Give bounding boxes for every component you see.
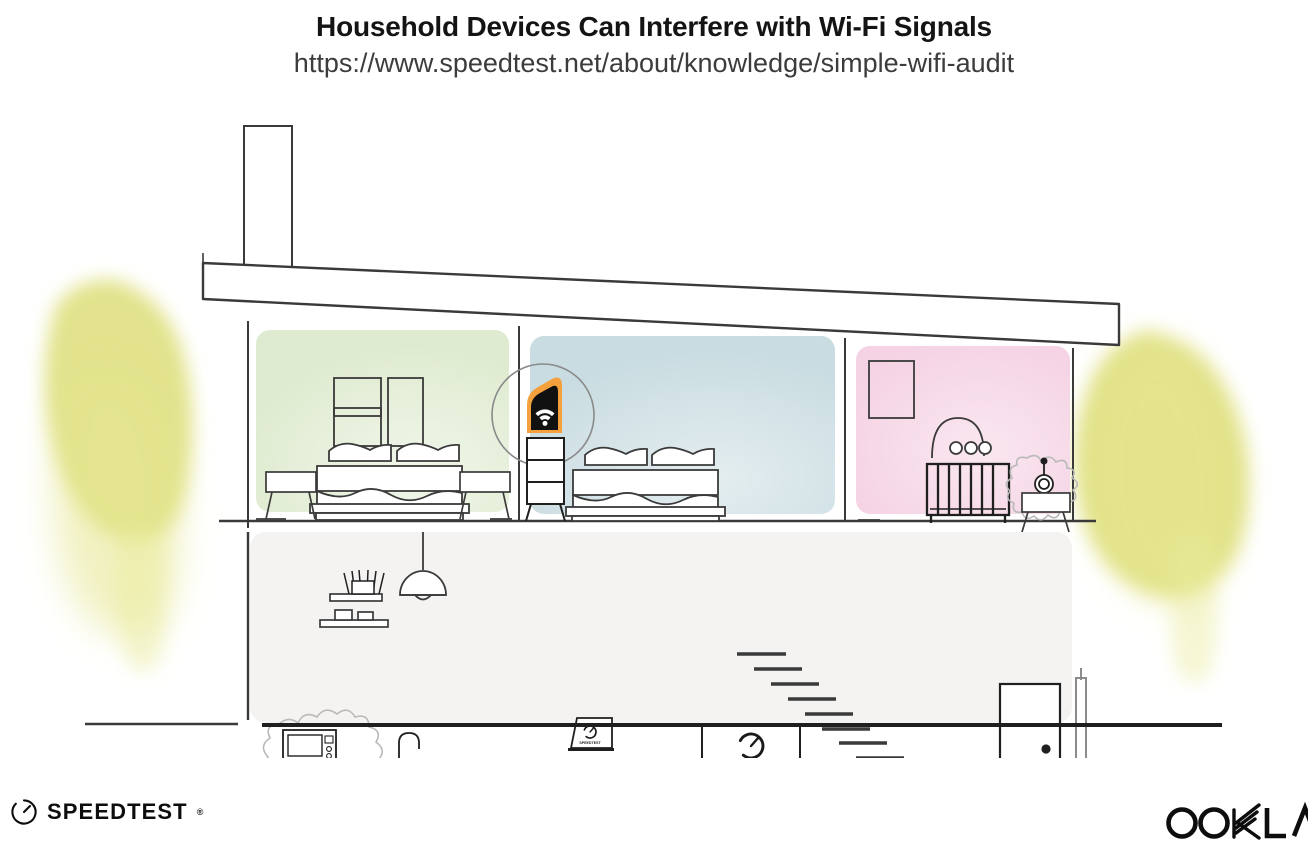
door-knob-icon bbox=[1041, 744, 1050, 753]
room-bedroom-green bbox=[256, 330, 512, 520]
registered-trademark-symbol: ® bbox=[197, 807, 204, 817]
source-url: https://www.speedtest.net/about/knowledg… bbox=[0, 49, 1308, 79]
side-table-nursery bbox=[1022, 493, 1070, 532]
bed-blue bbox=[566, 448, 725, 521]
sidelight-window bbox=[1076, 668, 1086, 758]
speedtest-logo[interactable]: SPEEDTEST ® bbox=[10, 798, 203, 826]
bed-green bbox=[310, 444, 469, 520]
microwave bbox=[283, 730, 336, 758]
room-nursery-pink bbox=[856, 346, 1077, 532]
sink-faucet bbox=[399, 733, 419, 758]
house-cutaway-illustration: SPEEDTEST bbox=[0, 108, 1308, 758]
page-footer: SPEEDTEST ® ® bbox=[0, 780, 1308, 850]
svg-text:SPEEDTEST: SPEEDTEST bbox=[579, 741, 601, 745]
page-title: Household Devices Can Interfere with Wi-… bbox=[0, 12, 1308, 43]
ground-line bbox=[85, 724, 1222, 725]
speedtest-gauge-icon bbox=[10, 798, 38, 826]
foliage-right bbox=[1075, 330, 1250, 682]
page-header: Household Devices Can Interfere with Wi-… bbox=[0, 0, 1308, 78]
chimney bbox=[244, 126, 292, 274]
ookla-logo[interactable]: ® bbox=[1160, 802, 1308, 847]
foliage-left bbox=[44, 279, 192, 672]
speedtest-wordmark: SPEEDTEST bbox=[47, 799, 188, 825]
television: SPEEDTEST bbox=[702, 724, 800, 758]
